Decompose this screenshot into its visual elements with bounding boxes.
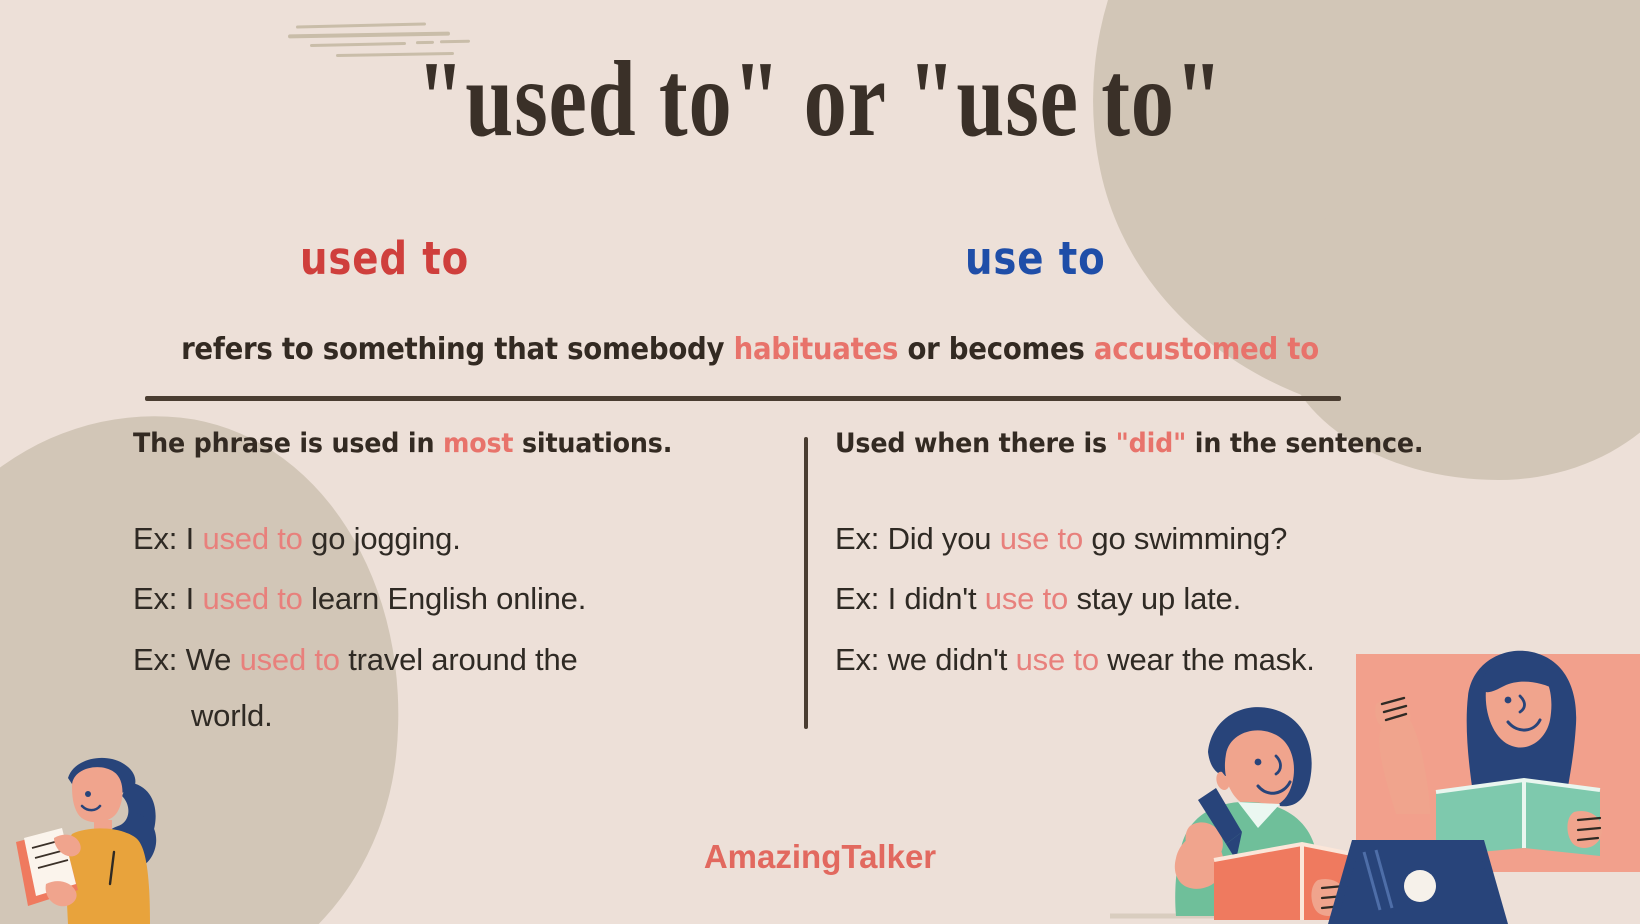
vertical-divider (804, 437, 808, 729)
shared-definition-text: refers to something that somebody habitu… (170, 332, 1329, 367)
highlighted-phrase: "did" (1116, 428, 1187, 459)
highlighted-phrase: use to (1000, 521, 1083, 556)
text-run: Ex: I (133, 581, 202, 616)
highlighted-phrase: used to (240, 642, 340, 677)
text-run: Ex: I didn't (835, 581, 985, 616)
highlighted-phrase: accustomed to (1094, 332, 1319, 367)
text-run: situations. (513, 428, 672, 459)
column-header-use-to: use to (965, 232, 1106, 285)
example-sentence: Ex: I used to learn English online. (133, 571, 788, 627)
text-run: Ex: we didn't (835, 642, 1016, 677)
page-title: "used to" or "use to" (164, 36, 1476, 163)
column-headers: used to use to (125, 232, 1365, 296)
highlighted-phrase: habituates (734, 332, 899, 367)
text-run: go swimming? (1083, 521, 1287, 556)
usage-rule-left: The phrase is used in most situations. (133, 428, 749, 459)
text-run: Used when there is (835, 428, 1116, 459)
text-run: Ex: Did you (835, 521, 1000, 556)
column-header-used-to: used to (300, 232, 469, 285)
text-run: go jogging. (303, 521, 461, 556)
example-sentence: Ex: Did you use to go swimming? (835, 511, 1535, 567)
text-run: The phrase is used in (133, 428, 443, 459)
example-sentence: Ex: I used to go jogging. (133, 511, 788, 567)
infographic-canvas: "used to" or "use to" used to use to ref… (0, 0, 1640, 924)
text-run: learn English online. (303, 581, 586, 616)
highlighted-phrase: used to (202, 581, 302, 616)
horizontal-divider (145, 396, 1341, 401)
text-run: in the sentence. (1186, 428, 1423, 459)
usage-rule-right: Used when there is "did" in the sentence… (835, 428, 1493, 459)
highlighted-phrase: most (443, 428, 513, 459)
column-used-to: The phrase is used in most situations. E… (133, 428, 788, 749)
text-run: or becomes (898, 332, 1094, 367)
example-sentence: Ex: We used to travel around theworld. (133, 632, 788, 745)
text-run: refers to something that somebody (181, 332, 733, 367)
highlighted-phrase: use to (985, 581, 1068, 616)
text-run: Ex: I (133, 521, 202, 556)
highlighted-phrase: used to (202, 521, 302, 556)
text-run: travel around the (340, 642, 578, 677)
study-scene-illustration (1080, 604, 1640, 924)
girl-reading-illustration (10, 734, 230, 924)
examples-list-left: Ex: I used to go jogging.Ex: I used to l… (133, 511, 788, 745)
text-run: Ex: We (133, 642, 240, 677)
